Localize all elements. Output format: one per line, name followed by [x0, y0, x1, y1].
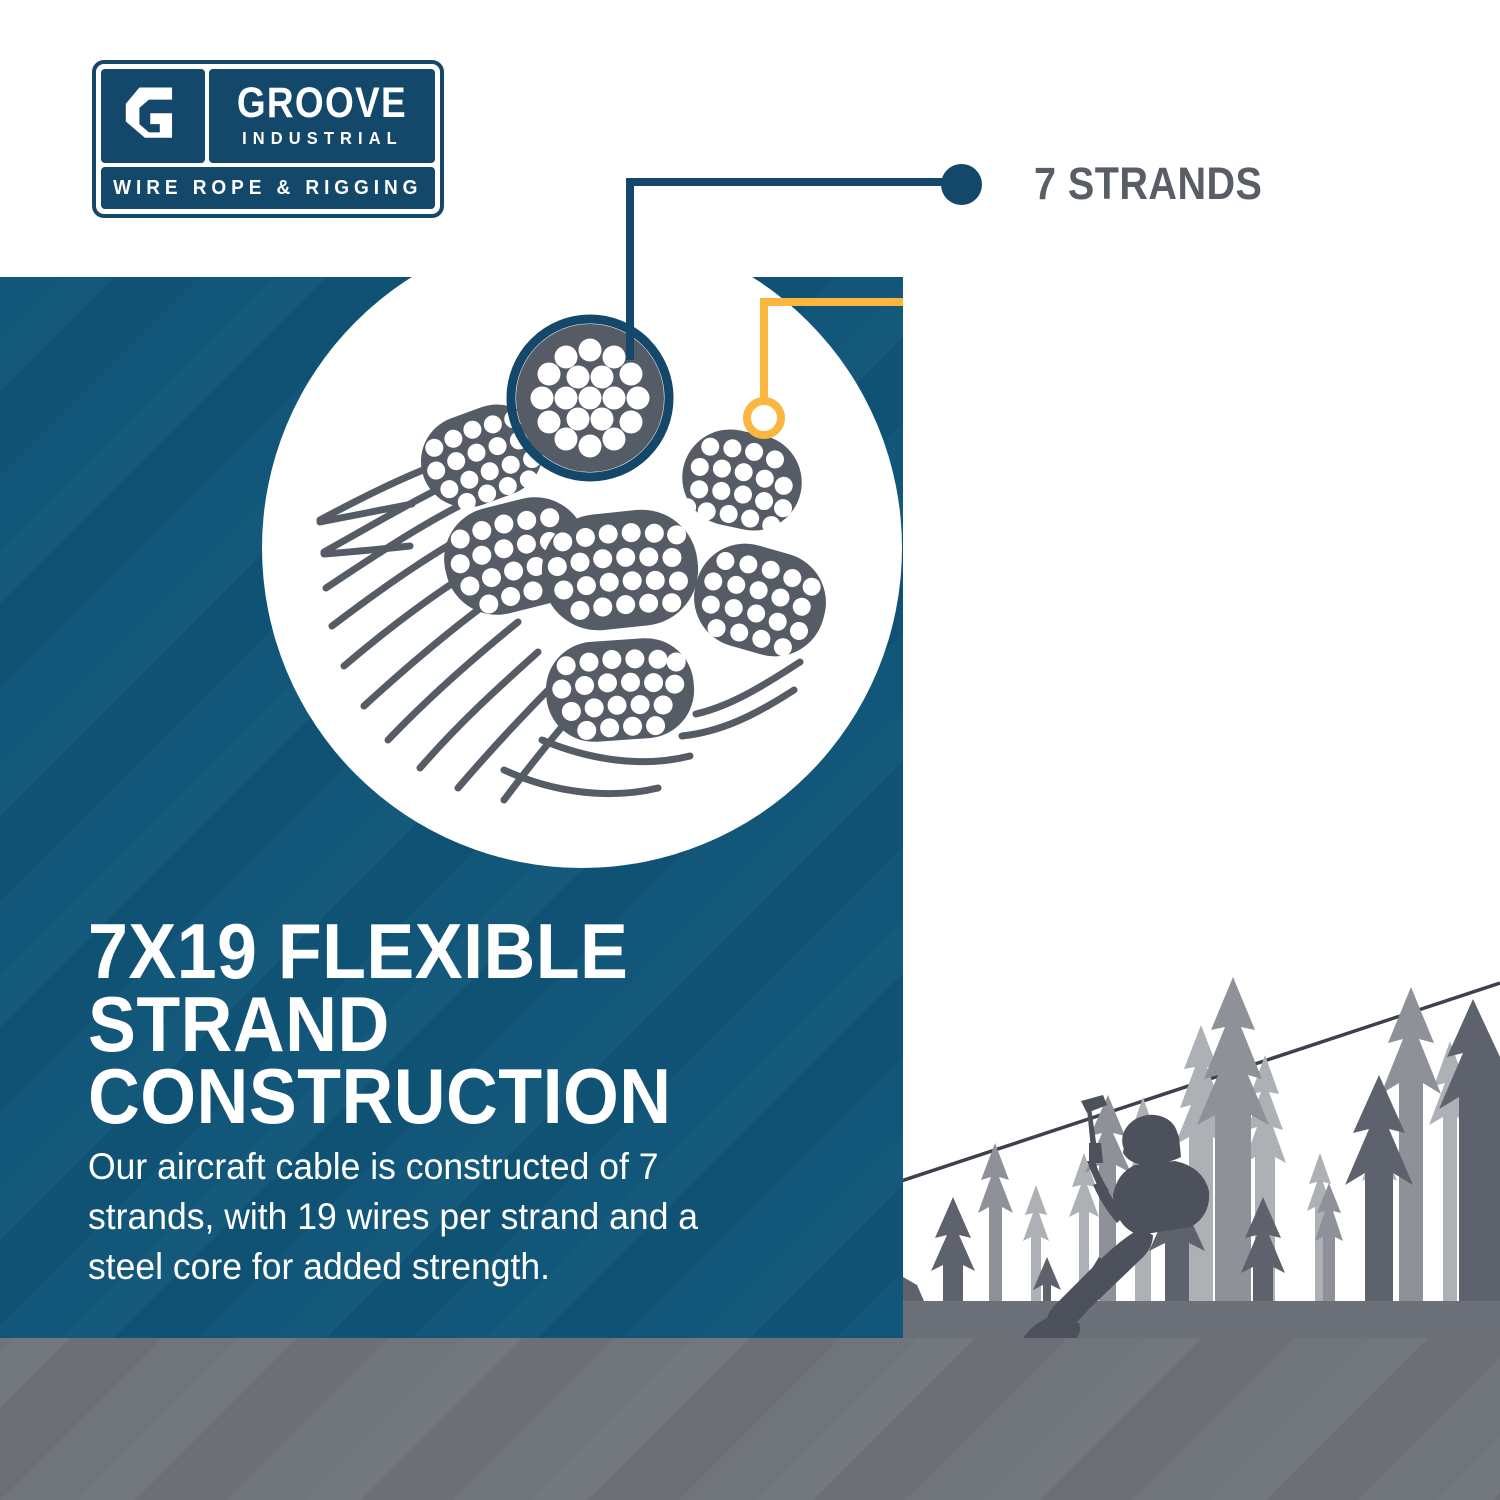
brand-logo: GROOVE INDUSTRIAL WIRE ROPE & RIGGING — [92, 60, 444, 218]
panel-body-copy: Our aircraft cable is constructed of 7 s… — [88, 1142, 760, 1292]
logo-tagline: WIRE ROPE & RIGGING — [113, 177, 422, 200]
groove-g-monogram-icon — [101, 69, 205, 163]
logo-brand-subtitle: INDUSTRIAL — [242, 128, 403, 149]
callout-dot-filled-blue-icon — [941, 164, 982, 205]
zipline-scene — [903, 277, 1500, 1338]
callout-label-strands: 7 STRANDS — [1034, 158, 1262, 210]
headline-line-2: STRAND CONSTRUCTION — [88, 988, 815, 1133]
panel-headline: 7X19 FLEXIBLE STRAND CONSTRUCTION — [88, 915, 815, 1133]
bottom-gray-band — [0, 1338, 1500, 1500]
infographic-canvas: GROOVE INDUSTRIAL WIRE ROPE & RIGGING — [0, 0, 1500, 1500]
band-wave-texture — [0, 1338, 1500, 1500]
callout-7-strands: 7 STRANDS — [941, 158, 1294, 210]
logo-brand-name: GROOVE — [237, 83, 407, 124]
